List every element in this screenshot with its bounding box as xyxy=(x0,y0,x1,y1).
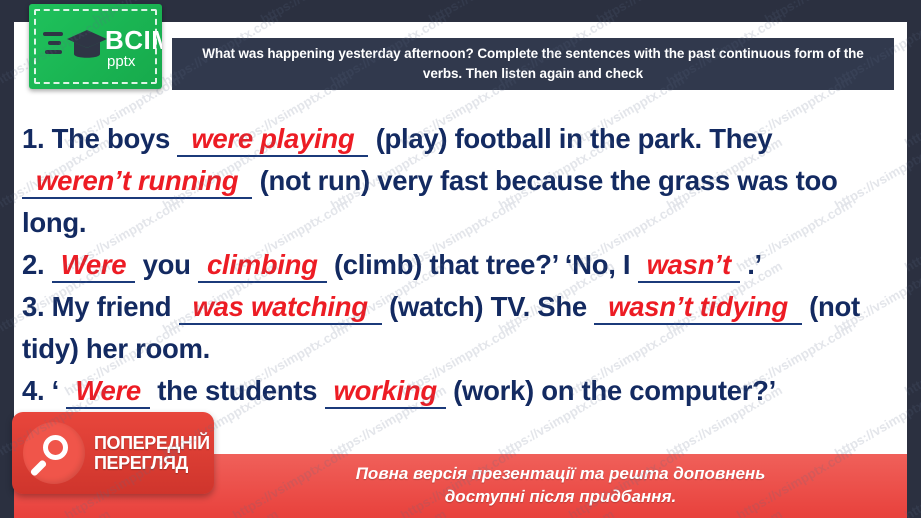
task-header-banner: What was happening yesterday afternoon? … xyxy=(172,38,894,90)
vsimpptx-logo[interactable]: BCIM pptx xyxy=(29,4,162,89)
line2-answer-3[interactable]: wasn’t xyxy=(638,249,740,283)
task-header-text: What was happening yesterday afternoon? … xyxy=(186,44,880,83)
magnifier-icon xyxy=(23,422,85,484)
line3-prompt-a: 3. My friend xyxy=(22,291,171,322)
right-rail xyxy=(907,0,921,518)
logo-brand-text: BCIM xyxy=(105,27,162,53)
preview-badge-line-2: ПЕРЕГЛЯД xyxy=(94,453,210,473)
line2-number: 2. xyxy=(22,249,44,280)
purchase-notice-text: Повна версія презентації та решта доповн… xyxy=(356,463,766,509)
line2-answer-2[interactable]: climbing xyxy=(198,249,327,283)
slide-stage: 1. The boys were playing (play) football… xyxy=(0,0,921,518)
line4-number: 4. ‘ xyxy=(22,375,59,406)
line4-prompt-c: (work) on the computer?’ xyxy=(453,375,776,406)
line4-answer-2[interactable]: working xyxy=(325,375,446,409)
line1-prompt-a: 1. The boys xyxy=(22,123,170,154)
line3-prompt-b: (watch) TV. She xyxy=(389,291,587,322)
line2-prompt-b: you xyxy=(143,249,191,280)
line4-prompt-b: the students xyxy=(157,375,317,406)
line3-answer-1[interactable]: was watching xyxy=(179,291,382,325)
magnifier-handle xyxy=(30,459,48,477)
line3-answer-2[interactable]: wasn’t tidying xyxy=(594,291,802,325)
line1-answer-2[interactable]: weren’t running xyxy=(22,165,252,199)
logo-subtitle-text: pptx xyxy=(107,54,135,69)
preview-badge[interactable]: ПОПЕРЕДНІЙ ПЕРЕГЛЯД xyxy=(12,412,214,494)
line1-prompt-b: (play) football in the park. They xyxy=(376,123,773,154)
purchase-notice-line-1: Повна версія презентації та решта доповн… xyxy=(356,463,766,486)
line1-answer-1[interactable]: were playing xyxy=(177,123,368,157)
exercise-line-3: 3. My friend was watching (watch) TV. Sh… xyxy=(22,286,900,370)
exercise-line-1: 1. The boys were playing (play) football… xyxy=(22,118,900,244)
line2-prompt-c: (climb) that tree?’ ‘No, I xyxy=(334,249,630,280)
purchase-notice-line-2: доступні після придбання. xyxy=(356,486,766,509)
exercise-line-2: 2. Were you climbing (climb) that tree?’… xyxy=(22,244,900,286)
line4-answer-1[interactable]: Were xyxy=(66,375,150,409)
magnifier-ring xyxy=(43,435,68,460)
logo-speed-lines-icon xyxy=(43,32,63,59)
exercise-body: 1. The boys were playing (play) football… xyxy=(22,118,900,454)
line2-answer-1[interactable]: Were xyxy=(52,249,136,283)
line2-prompt-d: .’ xyxy=(747,249,762,280)
exercise-line-4: 4. ‘ Were the students working (work) on… xyxy=(22,370,900,412)
graduation-cap-icon xyxy=(67,28,107,64)
preview-badge-text: ПОПЕРЕДНІЙ ПЕРЕГЛЯД xyxy=(94,433,210,473)
line1-prompt-c: (not run) very fast because the grass wa… xyxy=(260,165,789,196)
preview-badge-line-1: ПОПЕРЕДНІЙ xyxy=(94,433,210,453)
